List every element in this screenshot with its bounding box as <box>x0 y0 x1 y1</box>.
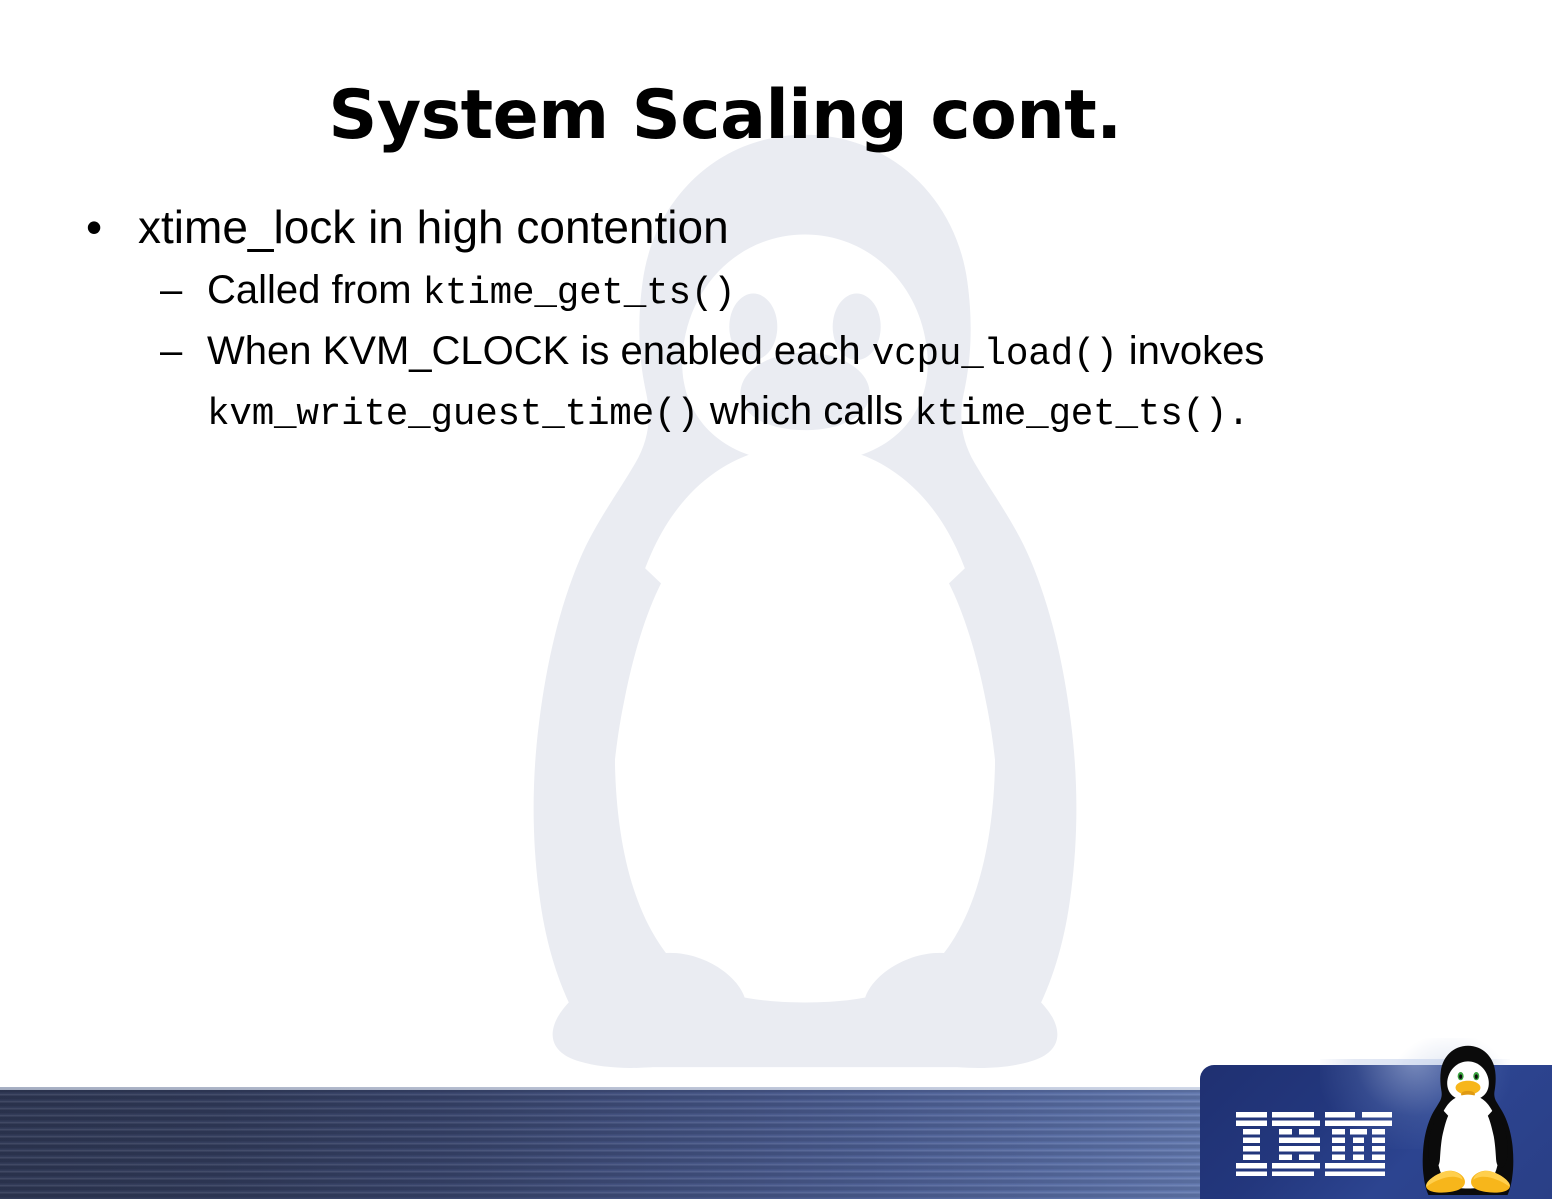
bullet-text: xtime_lock in high contention <box>138 201 729 253</box>
bullet-run-text: invokes <box>1118 329 1265 373</box>
bullet-text: Called from ktime_get_ts() <box>207 268 736 312</box>
bullet-run-text: When KVM_CLOCK is enabled each <box>207 329 872 373</box>
bullet-run-text: Called from <box>207 268 423 312</box>
code-run-kvm-write-guest-time: kvm_write_guest_time() <box>207 394 699 436</box>
bullet-marker-dash-icon: – <box>160 323 182 380</box>
bullet-level2-kvm-clock: – When KVM_CLOCK is enabled each vcpu_lo… <box>0 323 1420 442</box>
slide-body: • xtime_lock in high contention – Called… <box>0 198 1420 444</box>
bullet-run-text: which calls <box>699 389 915 433</box>
slide-title: System Scaling cont. <box>60 78 1390 154</box>
bullet-marker-dash-icon: – <box>160 262 182 319</box>
bullet-level1: • xtime_lock in high contention <box>0 198 1420 258</box>
slide-canvas: System Scaling cont. • xtime_lock in hig… <box>0 0 1552 1199</box>
bullet-text: When KVM_CLOCK is enabled each vcpu_load… <box>207 329 1264 432</box>
code-run-ktime-get-ts-end: ktime_get_ts(). <box>914 394 1249 436</box>
ibm-logo-icon <box>1234 1111 1394 1177</box>
tux-penguin-icon <box>1408 1043 1528 1195</box>
ibm-logo-box <box>1200 1065 1552 1199</box>
code-run-vcpu-load: vcpu_load() <box>872 334 1118 376</box>
bullet-run-text: xtime_lock in high contention <box>138 201 729 253</box>
code-run-ktime-get-ts: ktime_get_ts() <box>423 273 736 315</box>
bullet-marker-dot-icon: • <box>86 198 102 258</box>
bullet-level2-called-from: – Called from ktime_get_ts() <box>0 262 1420 321</box>
